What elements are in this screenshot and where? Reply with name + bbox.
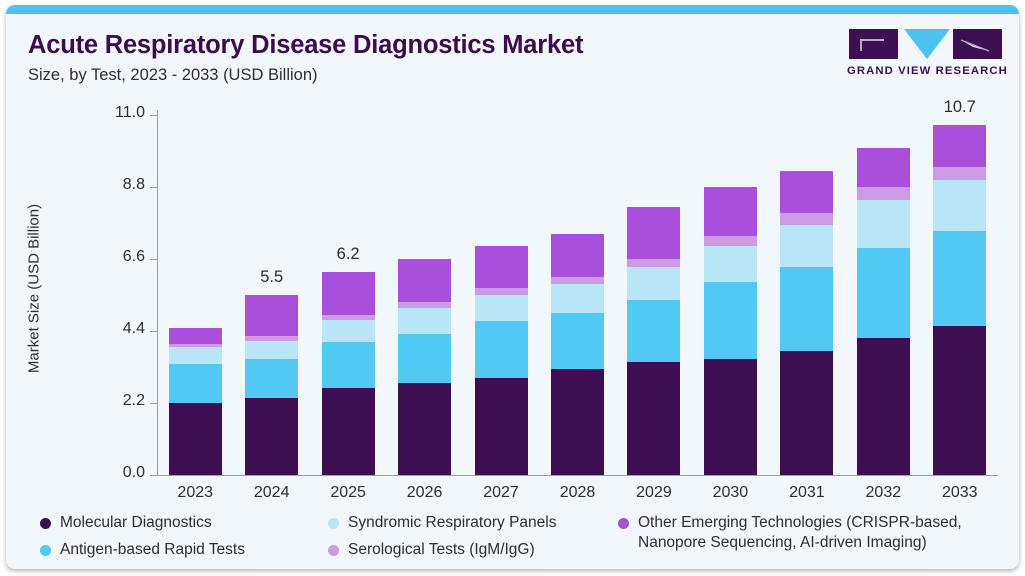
bar-segment[interactable] bbox=[475, 321, 528, 378]
bar-segment[interactable] bbox=[475, 288, 528, 295]
y-tick-mark bbox=[150, 331, 157, 332]
legend-swatch-icon bbox=[618, 518, 629, 529]
bar-segment[interactable] bbox=[169, 347, 222, 363]
x-tick-label: 2025 bbox=[308, 484, 388, 502]
bar-value-label: 5.5 bbox=[232, 268, 312, 287]
y-tick-label: 8.8 bbox=[85, 176, 145, 194]
bar-chart-plot: Market Size (USD Billion) 0.02.24.46.68.… bbox=[6, 5, 1019, 569]
legend-label: Serological Tests (IgM/IgG) bbox=[348, 540, 535, 560]
bar-segment[interactable] bbox=[627, 362, 680, 475]
bar-segment[interactable] bbox=[245, 336, 298, 341]
chart-card: Acute Respiratory Disease Diagnostics Ma… bbox=[6, 5, 1019, 569]
bar-segment[interactable] bbox=[169, 344, 222, 347]
x-tick-label: 2031 bbox=[767, 484, 847, 502]
x-tick-label: 2024 bbox=[232, 484, 312, 502]
legend-column-1: Molecular DiagnosticsAntigen-based Rapid… bbox=[40, 513, 310, 567]
bar-segment[interactable] bbox=[627, 259, 680, 267]
bar-segment[interactable] bbox=[857, 200, 910, 247]
x-tick-label: 2028 bbox=[538, 484, 618, 502]
x-tick-label: 2027 bbox=[461, 484, 541, 502]
legend-label: Other Emerging Technologies (CRISPR-base… bbox=[638, 513, 962, 553]
bar-segment[interactable] bbox=[551, 313, 604, 369]
bar-segment[interactable] bbox=[627, 267, 680, 300]
legend-item[interactable]: Molecular Diagnostics bbox=[40, 513, 310, 533]
bar-segment[interactable] bbox=[398, 302, 451, 309]
y-tick-label: 0.0 bbox=[85, 464, 145, 482]
bar-stack[interactable] bbox=[475, 246, 528, 475]
bar-segment[interactable] bbox=[704, 246, 757, 282]
legend-label: Molecular Diagnostics bbox=[60, 513, 212, 533]
bar-stack[interactable] bbox=[322, 272, 375, 475]
legend-item[interactable]: Serological Tests (IgM/IgG) bbox=[328, 540, 613, 560]
y-tick-label: 4.4 bbox=[85, 320, 145, 338]
bar-segment[interactable] bbox=[169, 328, 222, 344]
bar-segment[interactable] bbox=[398, 334, 451, 383]
bar-segment[interactable] bbox=[551, 277, 604, 284]
bar-segment[interactable] bbox=[551, 234, 604, 277]
bar-segment[interactable] bbox=[780, 225, 833, 268]
bar-segment[interactable] bbox=[704, 359, 757, 475]
y-tick-mark bbox=[150, 187, 157, 188]
bar-segment[interactable] bbox=[322, 320, 375, 343]
bar-segment[interactable] bbox=[933, 180, 986, 231]
bar-segment[interactable] bbox=[780, 351, 833, 475]
bar-value-label: 10.7 bbox=[920, 98, 1000, 117]
bar-segment[interactable] bbox=[780, 213, 833, 224]
bar-stack[interactable] bbox=[780, 171, 833, 475]
y-axis-line bbox=[157, 110, 158, 475]
y-axis-label: Market Size (USD Billion) bbox=[26, 159, 43, 419]
x-tick-label: 2026 bbox=[385, 484, 465, 502]
y-tick-mark bbox=[150, 403, 157, 404]
bar-segment[interactable] bbox=[322, 315, 375, 320]
bar-segment[interactable] bbox=[475, 246, 528, 289]
y-tick-mark bbox=[150, 475, 157, 476]
bar-stack[interactable] bbox=[398, 259, 451, 475]
bar-segment[interactable] bbox=[551, 284, 604, 313]
bar-segment[interactable] bbox=[933, 125, 986, 168]
legend-item[interactable]: Other Emerging Technologies (CRISPR-base… bbox=[618, 513, 1008, 553]
legend-swatch-icon bbox=[40, 518, 51, 529]
legend-label: Syndromic Respiratory Panels bbox=[348, 513, 556, 533]
bar-segment[interactable] bbox=[704, 187, 757, 236]
legend-swatch-icon bbox=[328, 545, 339, 556]
y-tick-label: 2.2 bbox=[85, 392, 145, 410]
bar-segment[interactable] bbox=[322, 272, 375, 315]
legend-item[interactable]: Antigen-based Rapid Tests bbox=[40, 540, 310, 560]
bar-segment[interactable] bbox=[857, 248, 910, 338]
legend-column-2: Syndromic Respiratory PanelsSerological … bbox=[328, 513, 613, 567]
bar-segment[interactable] bbox=[551, 369, 604, 475]
bar-value-label: 6.2 bbox=[308, 245, 388, 264]
y-tick-label: 6.6 bbox=[85, 248, 145, 266]
bar-stack[interactable] bbox=[933, 125, 986, 475]
x-axis-line bbox=[157, 475, 998, 476]
bar-segment[interactable] bbox=[780, 267, 833, 350]
x-tick-label: 2029 bbox=[614, 484, 694, 502]
legend-column-3: Other Emerging Technologies (CRISPR-base… bbox=[618, 513, 1008, 560]
bar-segment[interactable] bbox=[322, 388, 375, 475]
bar-segment[interactable] bbox=[933, 231, 986, 326]
legend-swatch-icon bbox=[40, 545, 51, 556]
y-tick-mark bbox=[150, 115, 157, 116]
bar-segment[interactable] bbox=[475, 378, 528, 475]
x-tick-label: 2032 bbox=[843, 484, 923, 502]
bar-segment[interactable] bbox=[322, 342, 375, 388]
bar-segment[interactable] bbox=[169, 364, 222, 403]
y-tick-mark bbox=[150, 259, 157, 260]
bar-segment[interactable] bbox=[857, 338, 910, 475]
chart-legend: Molecular DiagnosticsAntigen-based Rapid… bbox=[40, 513, 1010, 565]
bar-segment[interactable] bbox=[398, 259, 451, 302]
bar-segment[interactable] bbox=[704, 236, 757, 246]
bar-segment[interactable] bbox=[857, 148, 910, 187]
bar-segment[interactable] bbox=[627, 207, 680, 259]
bar-segment[interactable] bbox=[245, 359, 298, 398]
x-tick-label: 2023 bbox=[155, 484, 235, 502]
bar-segment[interactable] bbox=[245, 295, 298, 336]
bar-segment[interactable] bbox=[398, 383, 451, 475]
bar-stack[interactable] bbox=[169, 328, 222, 475]
x-tick-label: 2033 bbox=[920, 484, 1000, 502]
legend-label: Antigen-based Rapid Tests bbox=[60, 540, 245, 560]
legend-item[interactable]: Syndromic Respiratory Panels bbox=[328, 513, 613, 533]
y-tick-label: 11.0 bbox=[85, 104, 145, 122]
bar-stack[interactable] bbox=[551, 234, 604, 475]
bar-segment[interactable] bbox=[933, 167, 986, 180]
bar-segment[interactable] bbox=[857, 187, 910, 200]
bar-segment[interactable] bbox=[704, 282, 757, 359]
x-tick-label: 2030 bbox=[690, 484, 770, 502]
bar-stack[interactable] bbox=[704, 187, 757, 475]
bar-segment[interactable] bbox=[245, 341, 298, 359]
bar-segment[interactable] bbox=[933, 326, 986, 475]
bar-segment[interactable] bbox=[398, 308, 451, 334]
legend-swatch-icon bbox=[328, 518, 339, 529]
bar-segment[interactable] bbox=[169, 403, 222, 475]
bar-segment[interactable] bbox=[475, 295, 528, 321]
bar-segment[interactable] bbox=[245, 398, 298, 475]
bar-segment[interactable] bbox=[780, 171, 833, 214]
bar-stack[interactable] bbox=[245, 295, 298, 475]
bar-stack[interactable] bbox=[627, 207, 680, 475]
bar-stack[interactable] bbox=[857, 148, 910, 475]
bar-segment[interactable] bbox=[627, 300, 680, 362]
